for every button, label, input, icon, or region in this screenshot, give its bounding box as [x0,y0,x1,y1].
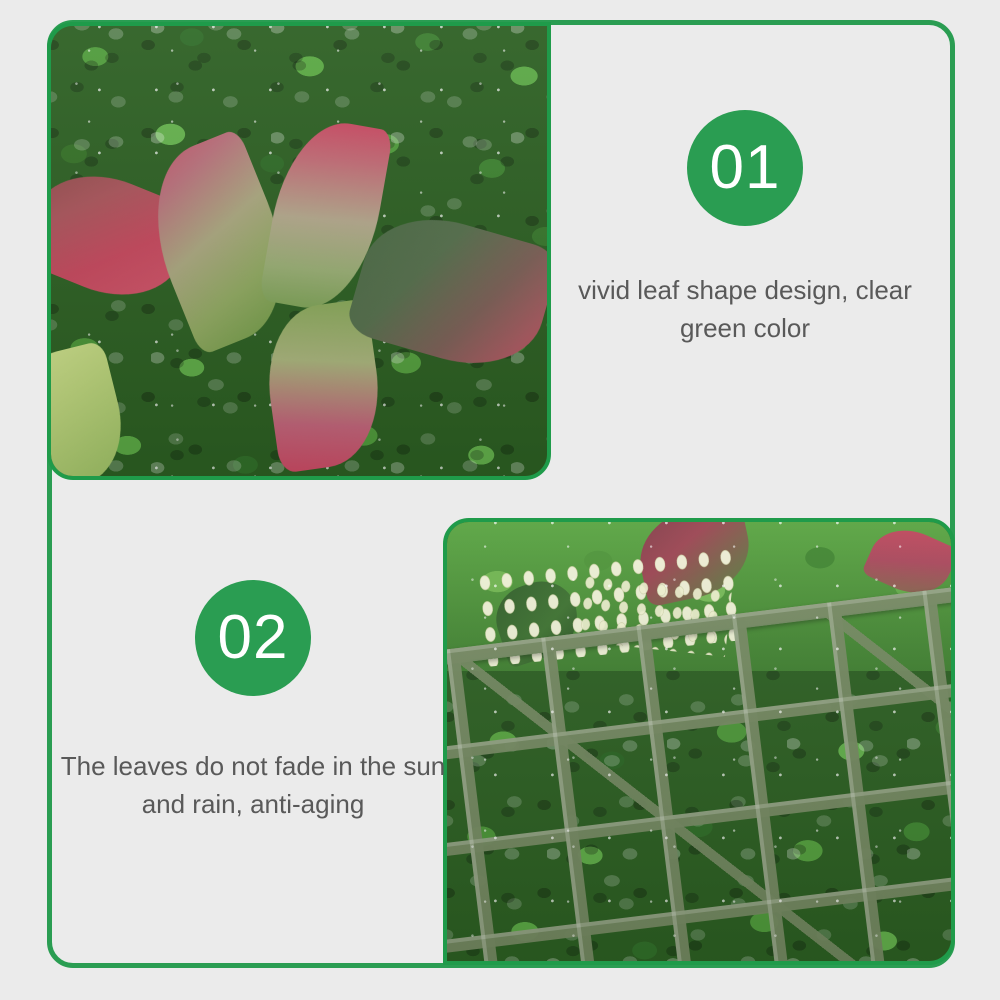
feature-badge-01-number: 01 [710,137,781,199]
feature-caption-01: vivid leaf shape design, clear green col… [560,272,930,347]
photo-01-content [51,26,547,476]
photo-01-vignette [51,26,547,476]
feature-caption-02: The leaves do not fade in the sun and ra… [58,748,448,823]
photo-02-content [447,522,951,961]
feature-photo-02 [443,518,955,965]
feature-photo-01 [47,22,551,480]
feature-badge-01: 01 [687,110,803,226]
feature-badge-02: 02 [195,580,311,696]
feature-badge-02-number: 02 [218,607,289,669]
photo-02-vignette [447,522,951,961]
infographic-canvas: 01 vivid leaf shape design, clear green … [0,0,1000,1000]
